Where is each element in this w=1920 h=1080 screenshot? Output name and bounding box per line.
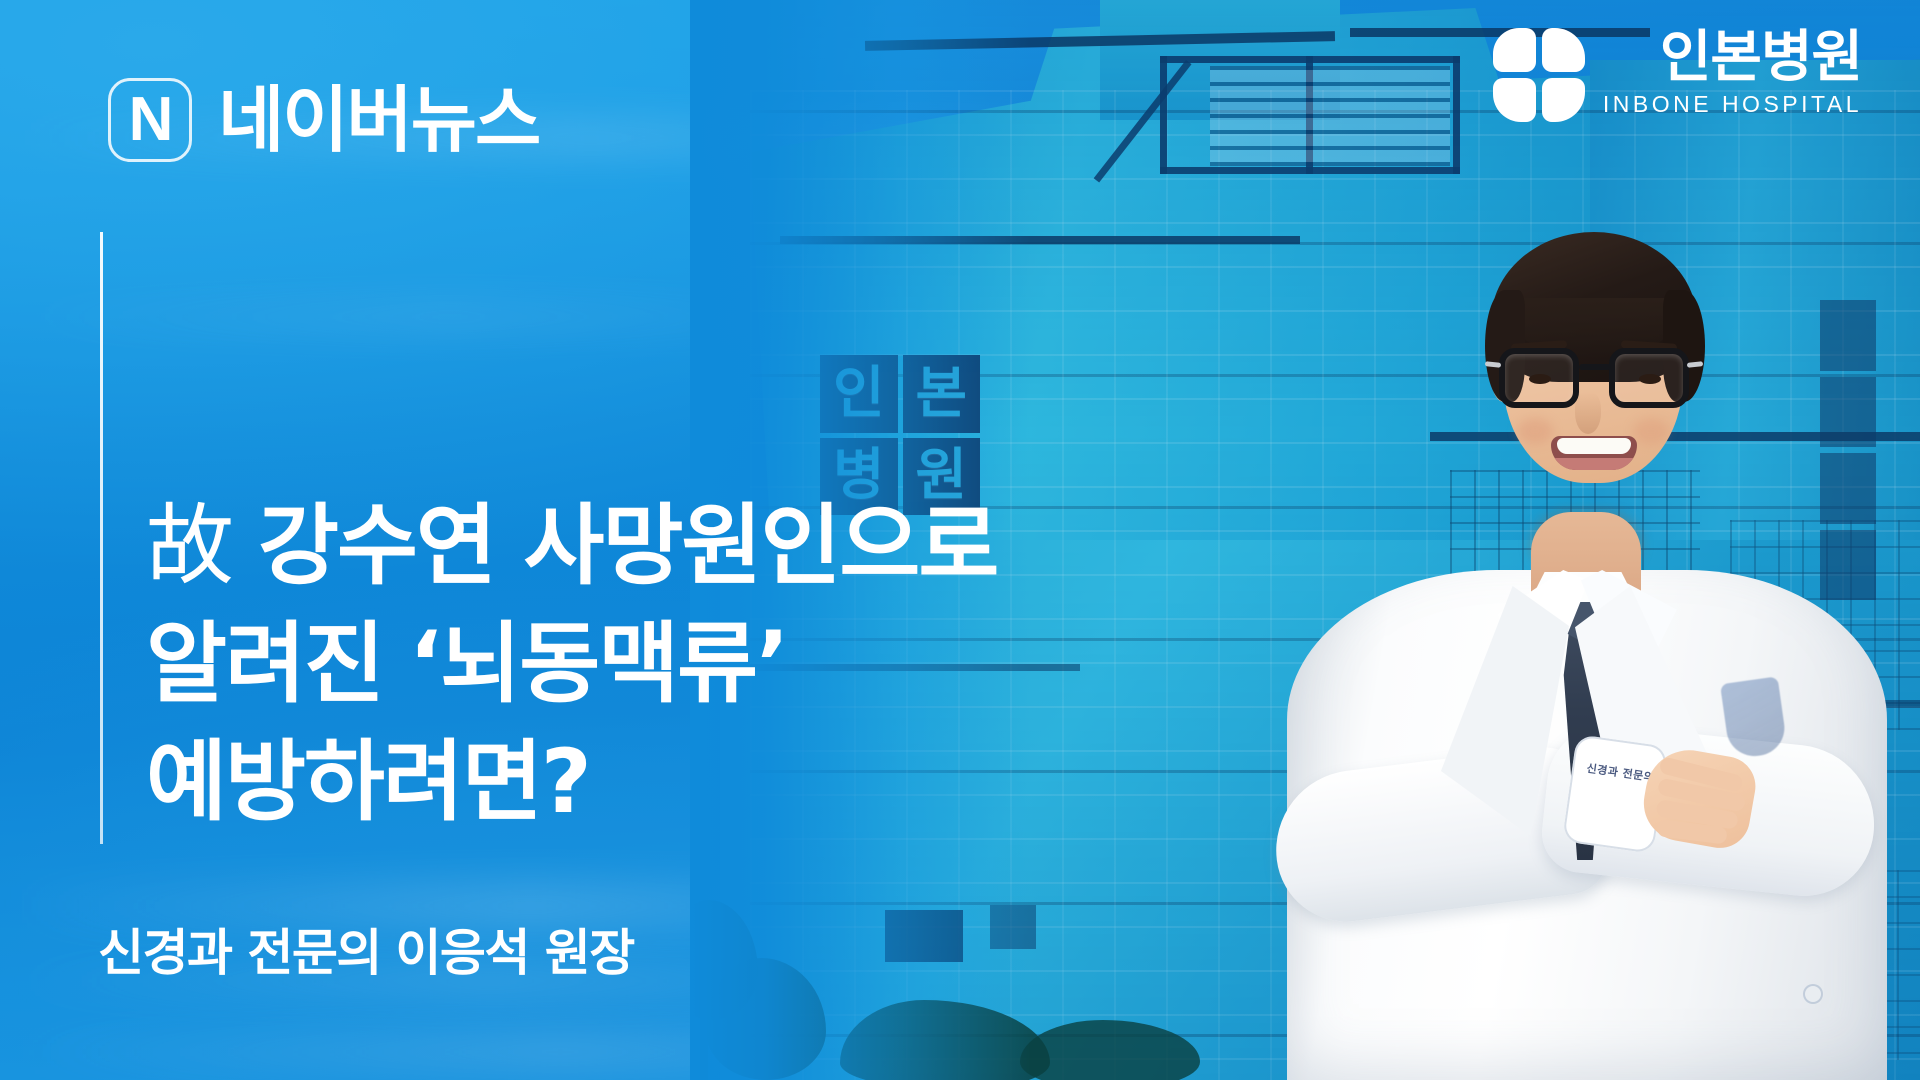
headline-keyword-quoted: ‘뇌동맥류’ <box>409 612 788 715</box>
eyeglasses-icon <box>1497 348 1691 410</box>
naver-news-label: 네이버뉴스 <box>218 84 539 156</box>
headline-line-1: 故 강수연 사망원인으로 <box>146 487 997 605</box>
teeth <box>1557 438 1631 454</box>
byline: 신경과 전문의 이응석 원장 <box>98 922 634 984</box>
eye-left <box>1529 374 1551 384</box>
headline-hanja: 故 <box>146 494 232 597</box>
hospital-logo-text: 인본병원 INBONE HOSPITAL <box>1603 28 1862 118</box>
cheek-right <box>1633 418 1669 444</box>
naver-n-letter: N <box>129 89 172 151</box>
headline-line-3: 예방하려면? <box>146 723 997 841</box>
byline-person: 이응석 원장 <box>395 924 633 982</box>
smiling-mouth <box>1551 436 1637 470</box>
naver-n-badge-icon: N <box>108 78 192 162</box>
byline-specialty: 신경과 전문의 <box>98 924 381 982</box>
promo-card: 인 본 병 원 <box>0 0 1920 1080</box>
coat-button <box>1805 986 1821 1002</box>
lower-lip <box>1551 458 1637 470</box>
headline-line-2: 알려진 ‘뇌동맥류’ <box>146 605 997 723</box>
cheek-left <box>1517 418 1553 444</box>
naver-news-logo[interactable]: N 네이버뉴스 <box>108 78 539 162</box>
headline-line-1-text: 강수연 사망원인으로 <box>258 494 997 597</box>
glasses-bridge <box>1579 364 1611 370</box>
eye-right <box>1639 374 1661 384</box>
vertical-divider <box>100 232 103 844</box>
doctor-portrait: 신경과 전문의 원장 이응석 <box>1245 140 1920 1080</box>
hospital-logo[interactable]: 인본병원 INBONE HOSPITAL <box>1493 28 1862 122</box>
hospital-name-ko: 인본병원 <box>1660 28 1862 88</box>
headline-block: 故 강수연 사망원인으로 알려진 ‘뇌동맥류’ 예방하려면? <box>146 487 997 841</box>
spine-joint-mark-icon <box>1493 28 1585 122</box>
hospital-name-en: INBONE HOSPITAL <box>1603 90 1862 118</box>
headline-line-3-text: 예방하려면? <box>146 730 590 833</box>
headline-line-2-prefix: 알려진 <box>146 612 383 715</box>
